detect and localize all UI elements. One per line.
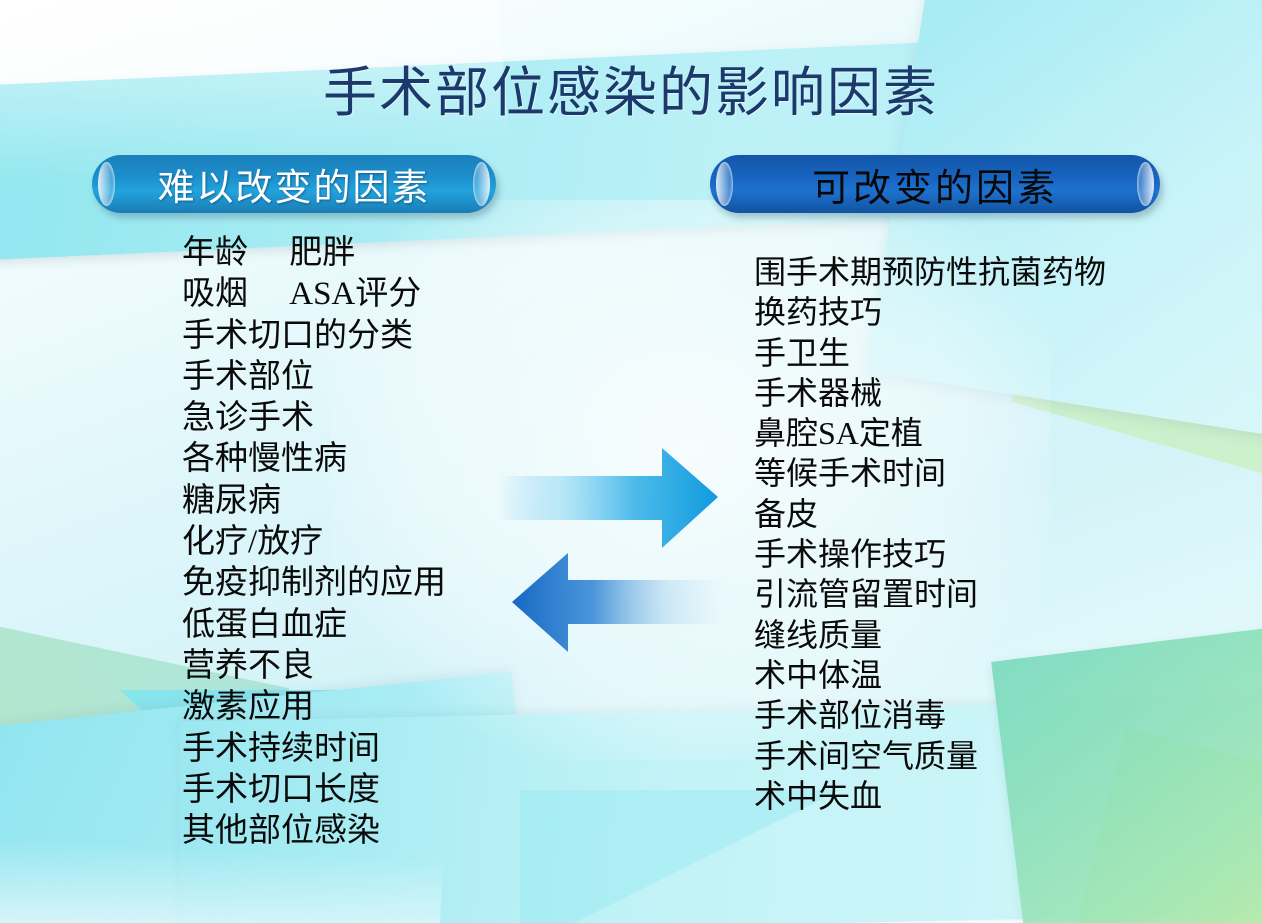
list-item: 缝线质量 (754, 615, 1106, 655)
slide-canvas: 手术部位感染的影响因素 难以改变的因素 可改变的因素 年龄 肥胖 吸烟 ASA评… (0, 0, 1262, 923)
list-item: 免疫抑制剂的应用 (182, 563, 446, 604)
pill-left-arc-right-icon (473, 162, 490, 206)
column-heading-label-left: 难以改变的因素 (158, 157, 431, 211)
list-item: 手术操作技巧 (754, 534, 1106, 574)
list-item: 备皮 (754, 494, 1106, 534)
list-item: 化疗/放疗 (182, 522, 446, 563)
list-item: 手术间空气质量 (754, 736, 1106, 776)
list-item: 手卫生 (754, 333, 1106, 373)
list-item: 手术切口的分类 (182, 316, 446, 357)
arrow-left-icon (512, 553, 726, 652)
list-item: 急诊手术 (182, 398, 446, 439)
list-item: 引流管留置时间 (754, 574, 1106, 614)
factor-list-hard-to-modify: 年龄 肥胖 吸烟 ASA评分 手术切口的分类 手术部位 急诊手术 各种慢性病 糖… (182, 233, 446, 852)
list-item: 手术部位 (182, 357, 446, 398)
arrow-right-icon (498, 448, 718, 548)
list-item: 鼻腔SA定植 (754, 413, 1106, 453)
list-item: 激素应用 (182, 687, 446, 728)
list-item: 其他部位感染 (182, 811, 446, 852)
list-item: 吸烟 ASA评分 (182, 274, 446, 315)
column-heading-label-right: 可改变的因素 (812, 157, 1058, 212)
list-item: 各种慢性病 (182, 439, 446, 480)
column-heading-hard-to-modify: 难以改变的因素 (92, 155, 496, 213)
column-heading-modifiable: 可改变的因素 (710, 155, 1160, 213)
list-item: 换药技巧 (754, 292, 1106, 332)
list-item: 围手术期预防性抗菌药物 (754, 252, 1106, 292)
factor-list-modifiable: 围手术期预防性抗菌药物 换药技巧 手卫生 手术器械 鼻腔SA定植 等候手术时间 … (754, 252, 1106, 816)
page-title: 手术部位感染的影响因素 (0, 62, 1262, 124)
bidirectional-arrows (490, 440, 740, 660)
list-item: 等候手术时间 (754, 453, 1106, 493)
list-item: 术中失血 (754, 776, 1106, 816)
list-item: 手术切口长度 (182, 770, 446, 811)
list-item: 手术持续时间 (182, 729, 446, 770)
pill-right-arc-left-icon (716, 162, 733, 206)
list-item: 手术部位消毒 (754, 695, 1106, 735)
list-item: 年龄 肥胖 (182, 233, 446, 274)
pill-right-arc-right-icon (1137, 162, 1154, 206)
list-item: 手术器械 (754, 373, 1106, 413)
pill-left-arc-left-icon (98, 162, 115, 206)
list-item: 术中体温 (754, 655, 1106, 695)
list-item: 糖尿病 (182, 481, 446, 522)
list-item: 营养不良 (182, 646, 446, 687)
list-item: 低蛋白血症 (182, 605, 446, 646)
